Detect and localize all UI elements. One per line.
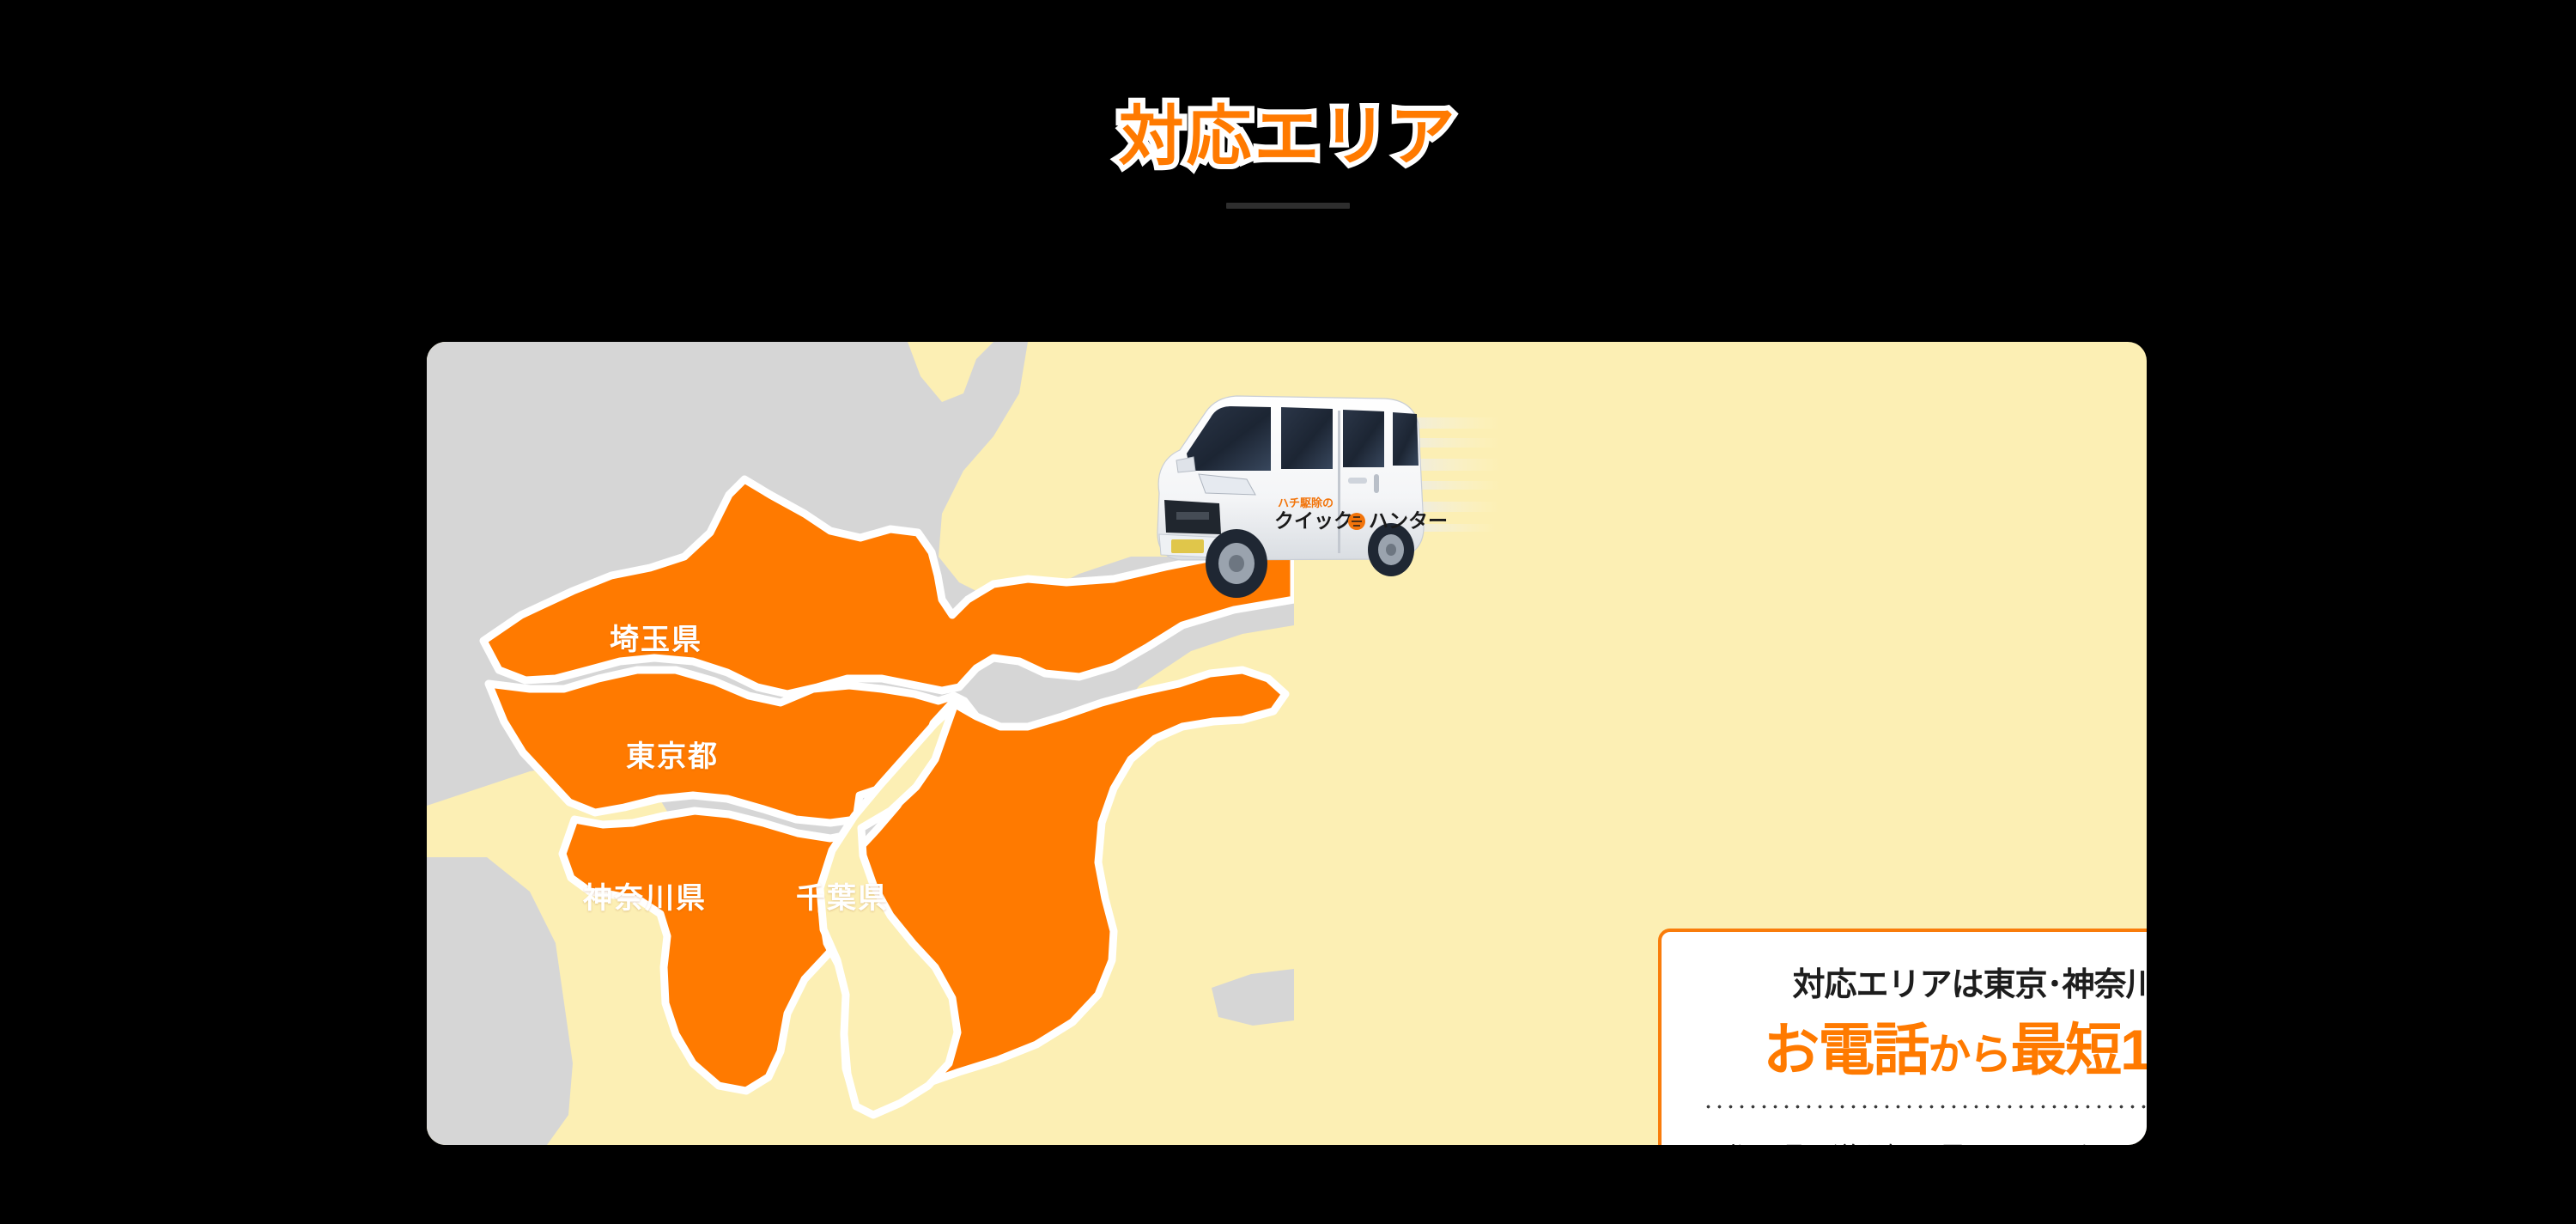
title-divider [1226,203,1350,209]
service-area-panel: 埼玉県 東京都 神奈川県 千葉県 [427,342,2147,1145]
card-subheading: 対応エリアは東京･神奈川･埼玉･千葉 [1699,966,2147,1006]
area-info-card: 対応エリアは東京･神奈川･埼玉･千葉 お電話から最短10分着！ １都３県の道を知… [1658,929,2147,1145]
bee-logo-stripes [1352,517,1362,526]
page-title: 対応エリア [1119,103,1458,172]
service-area-map: 埼玉県 東京都 神奈川県 千葉県 [427,342,1294,1145]
card-headline: お電話から最短10分着！ [1699,1018,2147,1083]
card-headline-part2: 最短10分着！ [2010,1018,2147,1081]
card-headline-small: から [1928,1031,2010,1079]
card-headline-part1: お電話 [1763,1018,1928,1081]
van-mid-window [1343,410,1384,467]
van-decal-main-right: ハンター [1369,509,1448,532]
van-door-handle [1348,478,1367,484]
motion-blur-streaks [1384,417,1501,532]
page-title-block: 対応エリア [0,103,2576,209]
bee-logo-icon [1348,513,1365,530]
van-rear-window [1393,412,1419,466]
van-rear-wheel [1368,523,1414,576]
van-door-pillar [1374,474,1379,493]
card-body-text: １都３県の道を知り尽くしたスタッフがいつでも待機中。お電話1本で今すぐ駆けつけハ… [1699,1135,2147,1145]
card-dotted-divider [1703,1105,2147,1109]
van-door-seam [1338,411,1340,553]
